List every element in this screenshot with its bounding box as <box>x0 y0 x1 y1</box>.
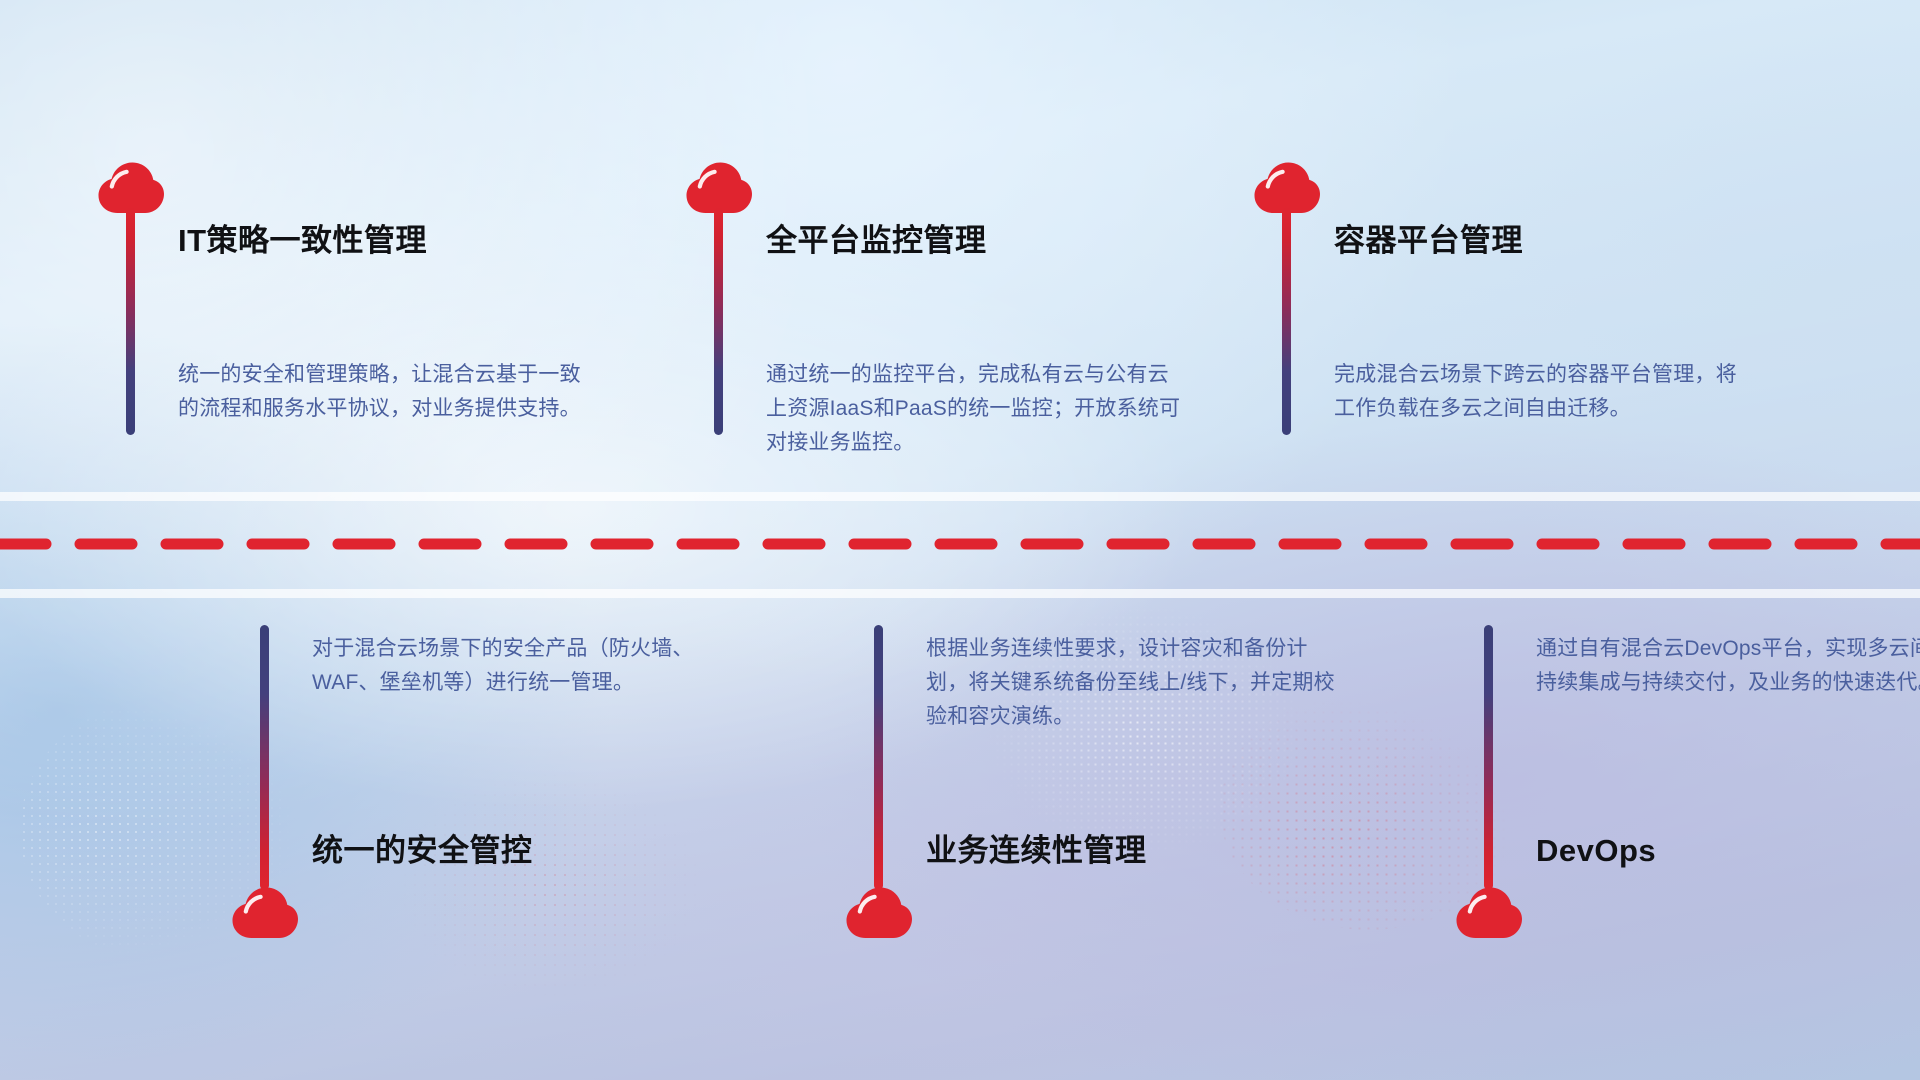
card-security-control: 对于混合云场景下的安全产品（防火墙、WAF、堡垒机等）进行统一管理。 统一的安全… <box>0 598 640 1080</box>
item-body: 统一的安全和管理策略，让混合云基于一致的流程和服务水平协议，对业务提供支持。 <box>178 358 598 426</box>
divider-rule-top <box>0 492 1920 501</box>
item-title: 统一的安全管控 <box>312 832 533 869</box>
cloud-icon <box>232 887 298 939</box>
connector-line-6 <box>1484 625 1493 890</box>
connector-line-4 <box>260 625 269 890</box>
item-body: 完成混合云场景下跨云的容器平台管理，将工作负载在多云之间自由迁移。 <box>1334 358 1754 426</box>
bottom-row: 对于混合云场景下的安全产品（防火墙、WAF、堡垒机等）进行统一管理。 统一的安全… <box>0 598 1920 1080</box>
item-title: 全平台监控管理 <box>766 222 987 259</box>
card-devops: 通过自有混合云DevOps平台，实现多云间的持续集成与持续交付，及业务的快速迭代… <box>1280 598 1920 1080</box>
item-body: 通过自有混合云DevOps平台，实现多云间的持续集成与持续交付，及业务的快速迭代… <box>1536 632 1920 700</box>
item-title: IT策略一致性管理 <box>178 222 427 259</box>
connector-line-3 <box>1282 207 1291 435</box>
connector-line-5 <box>874 625 883 890</box>
cloud-icon <box>1456 887 1522 939</box>
card-container-platform: 容器平台管理 完成混合云场景下跨云的容器平台管理，将工作负载在多云之间自由迁移。 <box>1280 0 1920 492</box>
divider-rule-bottom <box>0 589 1920 598</box>
connector-line-1 <box>126 207 135 435</box>
item-body: 通过统一的监控平台，完成私有云与公有云上资源IaaS和PaaS的统一监控；开放系… <box>766 358 1186 460</box>
item-title: DevOps <box>1536 832 1656 869</box>
top-row: IT策略一致性管理 统一的安全和管理策略，让混合云基于一致的流程和服务水平协议，… <box>0 0 1920 492</box>
card-monitoring: 全平台监控管理 通过统一的监控平台，完成私有云与公有云上资源IaaS和PaaS的… <box>640 0 1280 492</box>
dashed-divider-line <box>0 536 1920 552</box>
item-title: 容器平台管理 <box>1334 222 1523 259</box>
card-it-policy: IT策略一致性管理 统一的安全和管理策略，让混合云基于一致的流程和服务水平协议，… <box>0 0 640 492</box>
cloud-icon <box>846 887 912 939</box>
item-title: 业务连续性管理 <box>926 832 1147 869</box>
card-business-continuity: 根据业务连续性要求，设计容灾和备份计划，将关键系统备份至线上/线下，并定期校验和… <box>640 598 1280 1080</box>
infographic-canvas: IT策略一致性管理 统一的安全和管理策略，让混合云基于一致的流程和服务水平协议，… <box>0 0 1920 1080</box>
connector-line-2 <box>714 207 723 435</box>
